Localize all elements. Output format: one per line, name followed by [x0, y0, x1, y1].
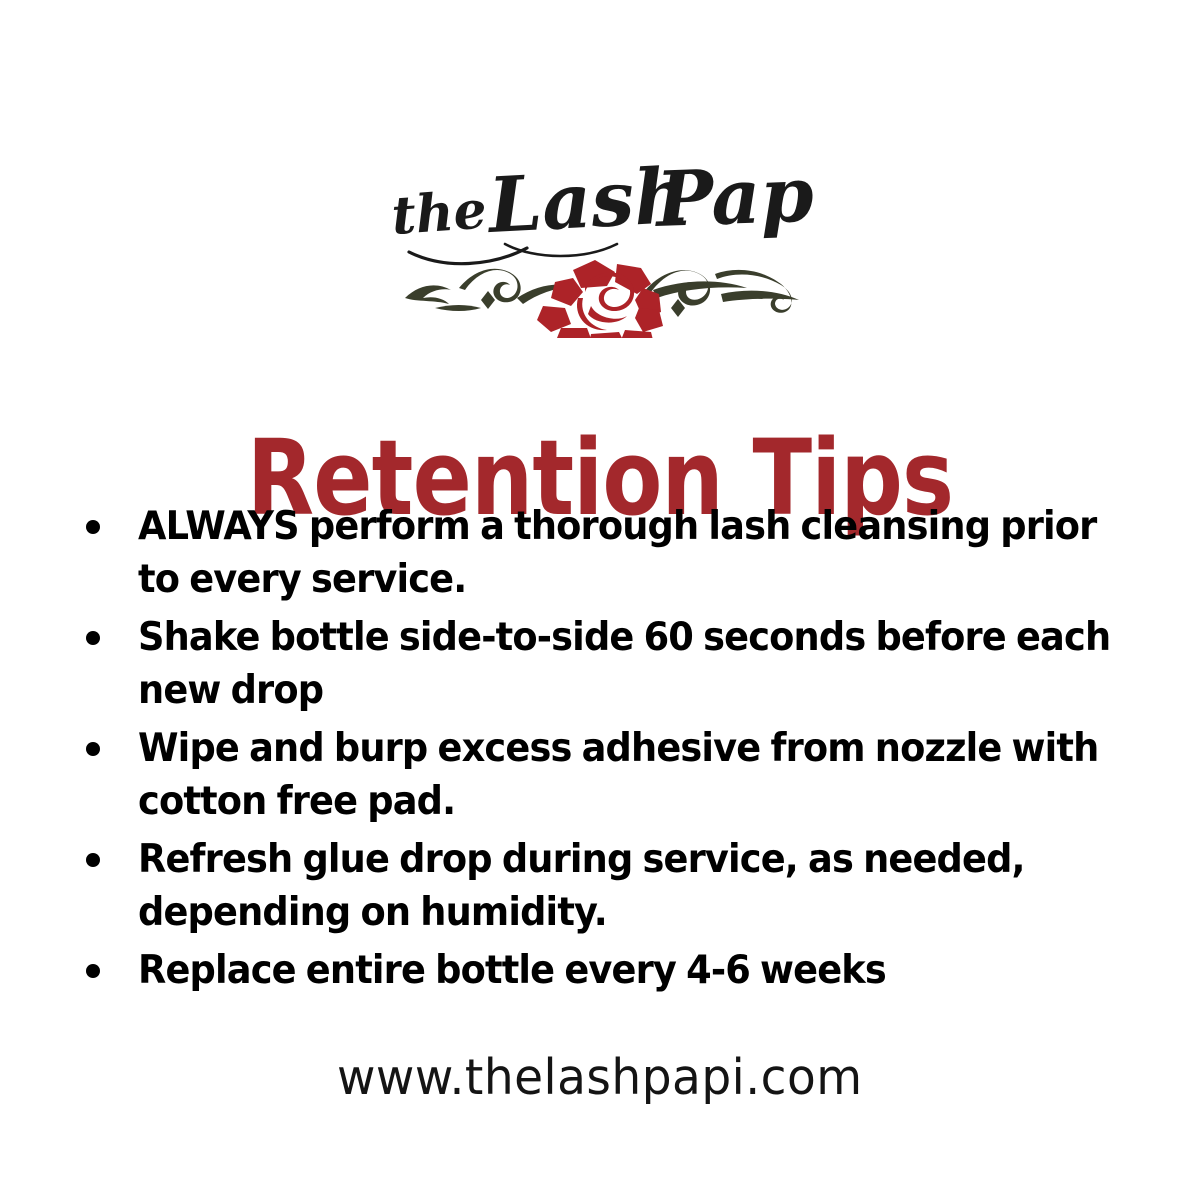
- logo-script-wordmark: the Lash Papi: [390, 149, 815, 251]
- tip-text: Shake bottle side-to-side 60 seconds bef…: [138, 611, 1142, 717]
- tip-text: Refresh glue drop during service, as nee…: [138, 833, 1142, 939]
- logo-artwork: the Lash Papi: [385, 148, 815, 338]
- website-url[interactable]: www.thelashpapi.com: [337, 1048, 863, 1108]
- tip-text: Wipe and burp excess adhesive from nozzl…: [138, 722, 1142, 828]
- logo-word-the: the: [390, 179, 489, 246]
- bullet-icon: [86, 631, 100, 645]
- retention-tips-poster: the Lash Papi: [0, 0, 1200, 1200]
- list-item: ALWAYS perform a thorough lash cleansing…: [72, 500, 1142, 606]
- brand-logo: the Lash Papi: [0, 148, 1200, 338]
- retention-tips-list: ALWAYS perform a thorough lash cleansing…: [72, 500, 1142, 1002]
- vine-flourish-right: [641, 270, 799, 317]
- bullet-icon: [86, 742, 100, 756]
- tip-text: ALWAYS perform a thorough lash cleansing…: [138, 500, 1142, 606]
- list-item: Refresh glue drop during service, as nee…: [72, 833, 1142, 939]
- list-item: Shake bottle side-to-side 60 seconds bef…: [72, 611, 1142, 717]
- tip-text: Replace entire bottle every 4-6 weeks: [138, 944, 1142, 997]
- vine-flourish-left: [405, 269, 573, 311]
- logo-word-papi: Papi: [653, 149, 815, 245]
- list-item: Replace entire bottle every 4-6 weeks: [72, 944, 1142, 997]
- bullet-icon: [86, 853, 100, 867]
- rose-icon: [537, 260, 663, 338]
- bullet-icon: [86, 520, 100, 534]
- list-item: Wipe and burp excess adhesive from nozzl…: [72, 722, 1142, 828]
- script-swash-underline: [409, 248, 527, 264]
- bullet-icon: [86, 964, 100, 978]
- footer-website: www.thelashpapi.com: [0, 1048, 1200, 1108]
